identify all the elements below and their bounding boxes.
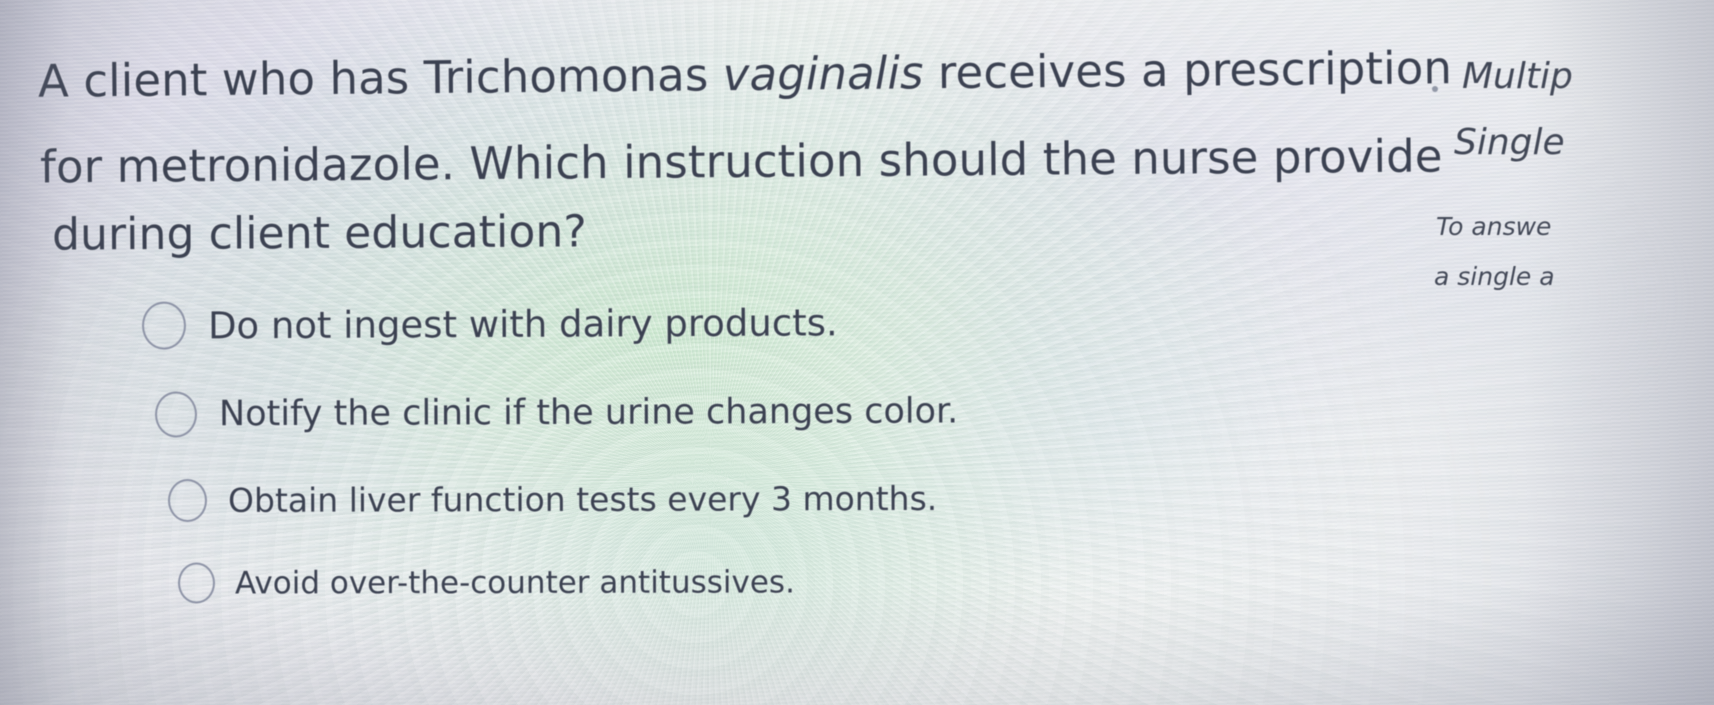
question-text-part-2: receives a prescription <box>923 41 1452 99</box>
question-content: A client who has Trichomonas vaginalis r… <box>0 0 1714 705</box>
question-line-2: for metronidazole. Which instruction sho… <box>40 129 1443 193</box>
organism-name-italic: vaginalis <box>723 46 924 101</box>
answer-option-1-label: Do not ingest with dairy products. <box>208 301 838 347</box>
answer-option-3[interactable]: Obtain liver function tests every 3 mont… <box>168 477 937 522</box>
answer-option-4-label: Avoid over-the-counter antitussives. <box>235 564 795 601</box>
radio-button-icon[interactable] <box>142 301 186 349</box>
question-line-1: A client who has Trichomonas vaginalis r… <box>38 41 1452 108</box>
question-type-panel: Multip Single To answe a single a <box>1432 40 1714 340</box>
radio-button-icon[interactable] <box>178 562 215 603</box>
radio-button-icon[interactable] <box>155 391 197 437</box>
answer-option-4[interactable]: Avoid over-the-counter antitussives. <box>178 561 795 603</box>
answer-option-2[interactable]: Notify the clinic if the urine changes c… <box>155 388 958 437</box>
photographed-screen: A client who has Trichomonas vaginalis r… <box>0 0 1714 705</box>
answer-option-2-label: Notify the clinic if the urine changes c… <box>219 391 958 434</box>
question-line-3: during client education? <box>52 206 587 260</box>
question-text-part-1: A client who has Trichomonas <box>38 48 723 108</box>
question-type-heading-line-1: Multip <box>1462 56 1573 97</box>
radio-button-icon[interactable] <box>168 479 207 522</box>
answer-option-3-label: Obtain liver function tests every 3 mont… <box>228 479 937 520</box>
question-type-heading-line-2: Single <box>1454 122 1565 163</box>
answer-option-1[interactable]: Do not ingest with dairy products. <box>142 298 838 349</box>
bullet-icon <box>1432 86 1438 92</box>
answer-instruction-line-1: To answe <box>1436 212 1551 241</box>
answer-instruction-line-2: a single a <box>1434 262 1555 291</box>
